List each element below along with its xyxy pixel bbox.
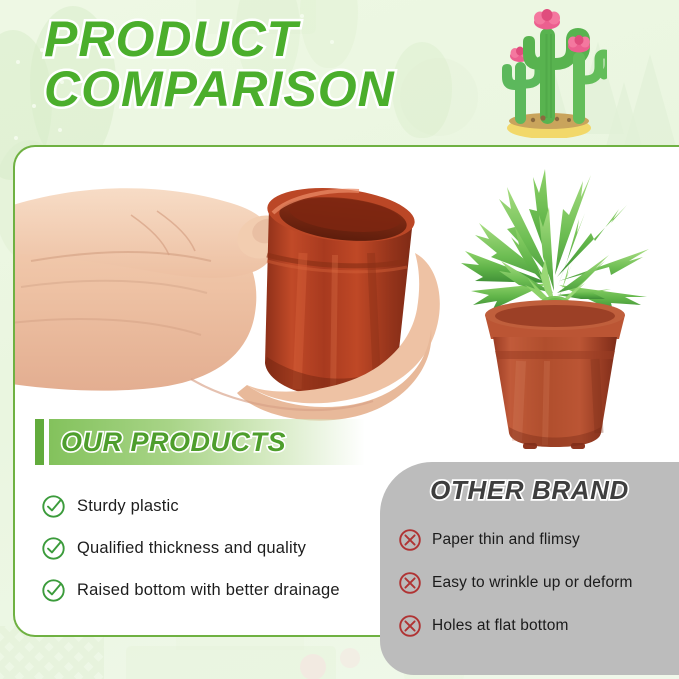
list-item-label: Qualified thickness and quality — [77, 539, 306, 558]
list-item: Paper thin and flimsy — [398, 518, 673, 561]
hand-holding-pot-photo — [13, 157, 441, 432]
list-item-label: Paper thin and flimsy — [432, 531, 580, 549]
check-circle-icon — [41, 578, 66, 603]
list-item-label: Raised bottom with better drainage — [77, 581, 340, 600]
cross-circle-icon — [398, 528, 422, 552]
cactus-illustration-icon — [487, 6, 607, 138]
our-products-heading: OUR PRODUCTS — [49, 427, 286, 458]
list-item-label: Sturdy plastic — [77, 497, 179, 516]
banner-accent-bar — [35, 419, 44, 465]
list-item: Raised bottom with better drainage — [41, 569, 391, 611]
list-item-label: Easy to wrinkle up or deform — [432, 574, 633, 592]
other-brand-heading: OTHER BRAND — [380, 475, 679, 506]
check-circle-icon — [41, 494, 66, 519]
list-item: Holes at flat bottom — [398, 604, 673, 647]
check-circle-icon — [41, 536, 66, 561]
other-brand-panel: OTHER BRAND Paper thin and flimsy Easy t… — [380, 462, 679, 675]
other-brand-list: Paper thin and flimsy Easy to wrinkle up… — [398, 518, 673, 647]
list-item-label: Holes at flat bottom — [432, 617, 569, 635]
list-item: Qualified thickness and quality — [41, 527, 391, 569]
our-products-banner: OUR PRODUCTS — [35, 419, 365, 465]
cross-circle-icon — [398, 571, 422, 595]
cross-circle-icon — [398, 614, 422, 638]
list-item: Sturdy plastic — [41, 485, 391, 527]
banner-gradient-band: OUR PRODUCTS — [49, 419, 365, 465]
list-item: Easy to wrinkle up or deform — [398, 561, 673, 604]
page-title: PRODUCT COMPARISON — [44, 14, 514, 114]
product-comparison-infographic: PRODUCT COMPARISON — [0, 0, 679, 679]
header: PRODUCT COMPARISON — [0, 0, 679, 145]
succulent-plant-photo — [449, 165, 659, 450]
our-products-list: Sturdy plastic Qualified thickness and q… — [41, 485, 391, 611]
